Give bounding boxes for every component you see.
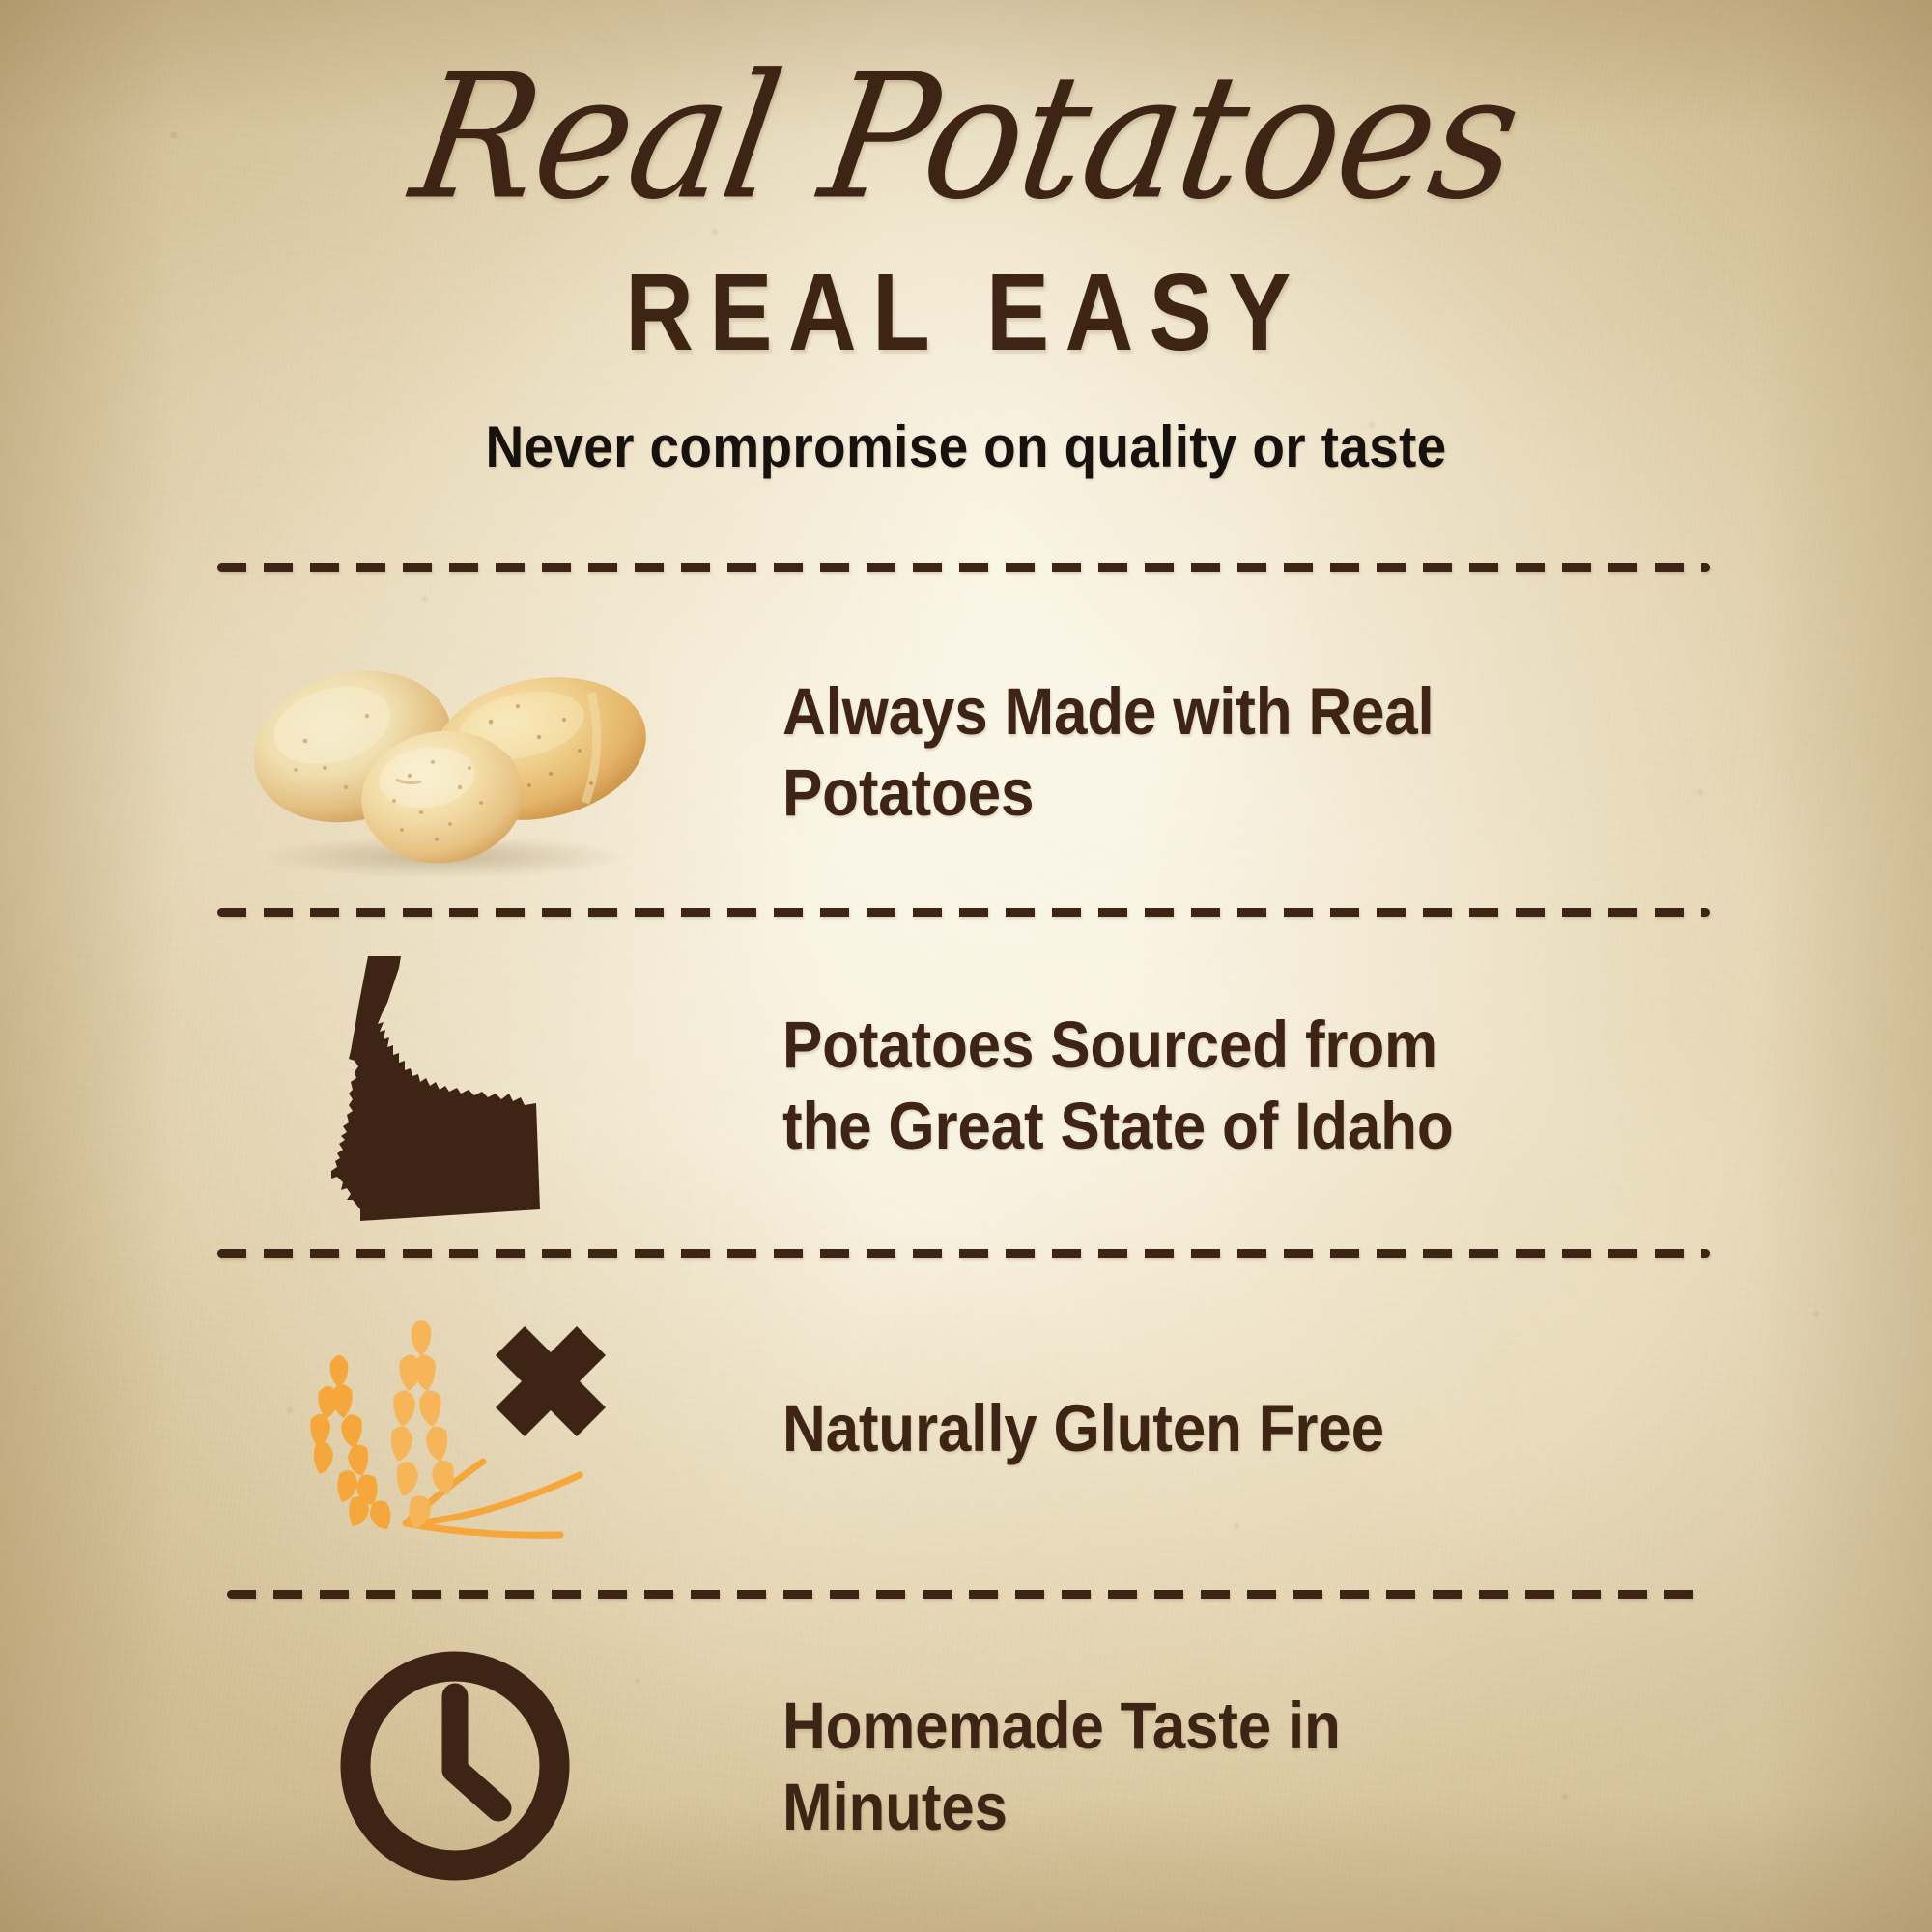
feature-text-line: Potatoes Sourced from bbox=[782, 1007, 1652, 1087]
divider-top bbox=[217, 563, 1710, 572]
page-title-bold: REAL EASY bbox=[0, 258, 1932, 367]
wheat-crossed-out-icon bbox=[232, 1299, 667, 1560]
page-title-script: Real Potatoes bbox=[0, 51, 1932, 223]
page-subtitle: Never compromise on quality or taste bbox=[0, 417, 1932, 476]
feature-text-line: Always Made with Real bbox=[782, 673, 1633, 753]
feature-text-line: Minutes bbox=[782, 1768, 1652, 1848]
feature-text-potatoes: Always Made with Real Potatoes bbox=[782, 673, 1633, 834]
infographic-poster: Real Potatoes REAL EASY Never compromise… bbox=[0, 0, 1932, 1932]
feature-text-line: Naturally Gluten Free bbox=[782, 1389, 1652, 1469]
feature-text-line: Potatoes bbox=[782, 753, 1633, 834]
divider-2 bbox=[217, 1249, 1710, 1258]
feature-row-potatoes: Always Made with Real Potatoes bbox=[232, 618, 1739, 889]
feature-row-gluten-free: Naturally Gluten Free bbox=[232, 1285, 1739, 1575]
divider-1 bbox=[217, 908, 1710, 917]
feature-text-idaho: Potatoes Sourced from the Great State of… bbox=[782, 1007, 1652, 1167]
potatoes-icon bbox=[232, 633, 667, 874]
divider-3 bbox=[227, 1590, 1710, 1599]
idaho-state-icon bbox=[232, 947, 667, 1227]
feature-row-idaho: Potatoes Sourced from the Great State of… bbox=[232, 942, 1739, 1232]
feature-text-homemade: Homemade Taste in Minutes bbox=[782, 1688, 1652, 1848]
feature-row-homemade: Homemade Taste in Minutes bbox=[232, 1633, 1739, 1903]
feature-text-line: Homemade Taste in bbox=[782, 1688, 1652, 1768]
feature-text-line: the Great State of Idaho bbox=[782, 1087, 1652, 1167]
x-mark bbox=[496, 1326, 606, 1436]
feature-text-gluten-free: Naturally Gluten Free bbox=[782, 1389, 1652, 1469]
clock-icon bbox=[232, 1642, 667, 1893]
